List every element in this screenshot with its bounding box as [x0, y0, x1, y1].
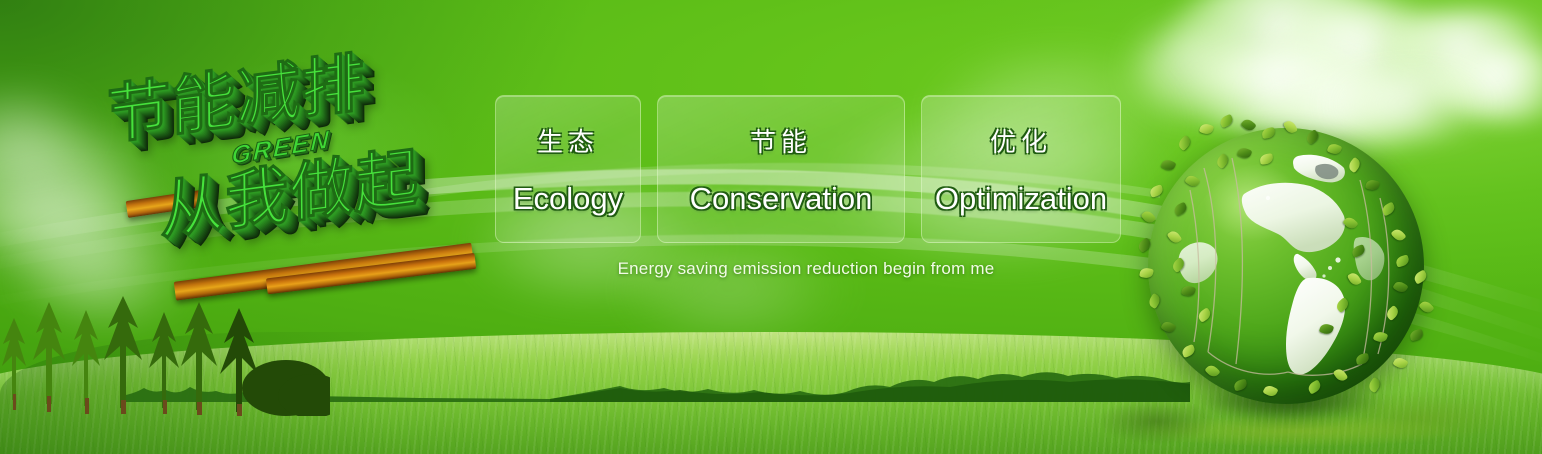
card-conservation[interactable]: 节能 Conservation: [657, 95, 905, 243]
card-conservation-cn-label: 节能: [750, 122, 812, 159]
pine-trees: [0, 296, 330, 416]
hero-title-3d: 节能减排 GREEN 从我做起: [94, 18, 504, 284]
card-optimization[interactable]: 优化 Optimization: [921, 95, 1121, 243]
card-optimization-cn-label: 优化: [990, 122, 1052, 159]
tagline-text: Energy saving emission reduction begin f…: [495, 259, 1117, 279]
banner-root: 节能减排 GREEN 从我做起 生态 Ecology 节能 Conservati…: [0, 0, 1542, 454]
feature-card-group: 生态 Ecology 节能 Conservation 优化 Optimizati…: [495, 95, 1121, 243]
card-ecology-cn-label: 生态: [537, 122, 599, 159]
globe-vine-strands: [1148, 128, 1424, 404]
card-ecology[interactable]: 生态 Ecology: [495, 95, 641, 243]
earth-globe: [1148, 128, 1430, 418]
card-optimization-en-label: Optimization: [935, 181, 1107, 217]
card-conservation-en-label: Conservation: [690, 181, 873, 217]
card-ecology-en-label: Ecology: [513, 181, 623, 217]
globe-sphere: [1148, 128, 1424, 404]
